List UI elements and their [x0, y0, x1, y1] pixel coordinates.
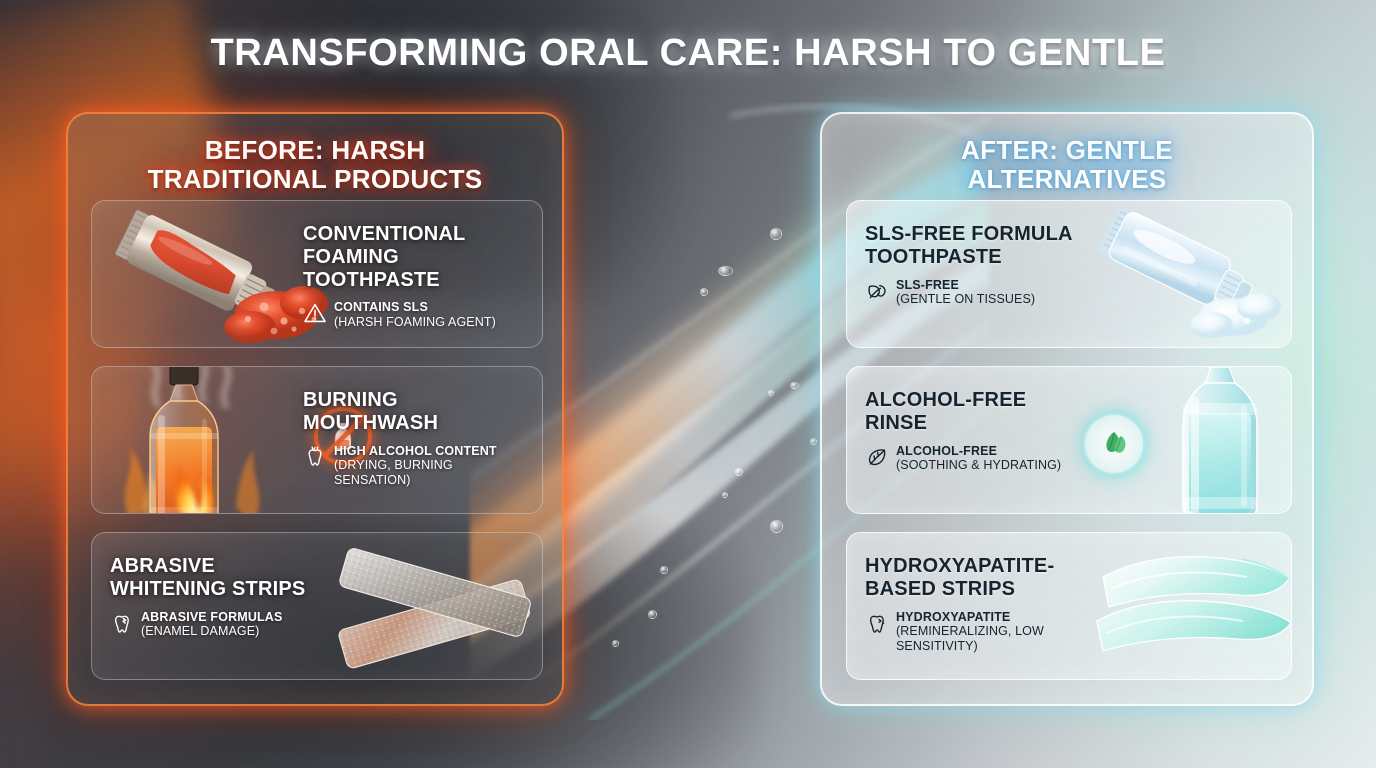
heading-line1: CONVENTIONAL — [303, 223, 465, 245]
bubble — [770, 228, 782, 240]
card-conventional-foaming-toothpaste[interactable]: CONVENTIONAL FOAMING TOOTHPASTE CONTAINS… — [91, 200, 543, 348]
card-text-abrasive-strips: ABRASIVE WHITENING STRIPS ABRASIVE FORMU… — [110, 555, 335, 639]
benefit-sub: (GENTLE ON TISSUES) — [896, 292, 1035, 307]
benefit-sub: (DRYING, BURNING SENSATION) — [334, 458, 528, 488]
benefit-lines: HIGH ALCOHOL CONTENT (DRYING, BURNING SE… — [334, 444, 528, 488]
bubble — [718, 266, 733, 276]
benefit-high-alcohol-content: HIGH ALCOHOL CONTENT (DRYING, BURNING SE… — [303, 444, 528, 488]
after-panel: AFTER: GENTLE ALTERNATIVES — [820, 112, 1314, 706]
card-heading-burning-mouthwash: BURNING MOUTHWASH — [303, 389, 528, 435]
card-heading-abrasive-strips: ABRASIVE WHITENING STRIPS — [110, 555, 335, 601]
heading-line1: ABRASIVE — [110, 555, 215, 577]
flaming-mouthwash-bottle-art — [102, 366, 302, 514]
benefit-abrasive-formulas: ABRASIVE FORMULAS (ENAMEL DAMAGE) — [110, 610, 335, 640]
heading-line2: FOAMING — [303, 246, 399, 268]
before-panel: BEFORE: HARSH TRADITIONAL PRODUCTS — [66, 112, 564, 706]
card-abrasive-whitening-strips[interactable]: ABRASIVE WHITENING STRIPS ABRASIVE FORMU… — [91, 532, 543, 680]
card-alcohol-free-rinse[interactable]: ALCOHOL-FREE RINSE ALCOHOL-FREE (SOOTHIN… — [846, 366, 1292, 514]
after-panel-title: AFTER: GENTLE ALTERNATIVES — [822, 136, 1312, 194]
benefit-lines: CONTAINS SLS (HARSH FOAMING AGENT) — [334, 300, 496, 330]
benefit-main: SLS-FREE — [896, 278, 1035, 293]
benefit-main: HYDROXYAPATITE — [896, 610, 1115, 625]
card-text-conventional-toothpaste: CONVENTIONAL FOAMING TOOTHPASTE CONTAINS… — [303, 223, 528, 330]
after-title-line2: ALTERNATIVES — [967, 164, 1166, 194]
bubble — [735, 468, 743, 476]
benefit-main: CONTAINS SLS — [334, 300, 496, 315]
bubble — [648, 610, 657, 619]
card-text-sls-free-toothpaste: SLS-FREE FORMULA TOOTHPASTE SLS-FREE (GE… — [865, 223, 1090, 307]
heading-line2: WHITENING STRIPS — [110, 578, 305, 600]
healthy-tooth-icon — [865, 611, 889, 635]
card-heading-conventional-toothpaste: CONVENTIONAL FOAMING TOOTHPASTE — [303, 223, 528, 291]
benefit-lines: SLS-FREE (GENTLE ON TISSUES) — [896, 278, 1035, 308]
after-title-line1: AFTER: GENTLE — [961, 135, 1173, 165]
mint-translucent-mouthwash-bottle-art — [1147, 366, 1292, 514]
benefit-sub: (REMINERALIZING, LOW SENSITIVITY) — [896, 624, 1115, 654]
card-heading-hydroxyapatite-strips: HYDROXYAPATITE- BASED STRIPS — [865, 555, 1115, 601]
benefit-lines: HYDROXYAPATITE (REMINERALIZING, LOW SENS… — [896, 610, 1115, 654]
leaf-icon — [865, 279, 889, 303]
benefit-sls-free: SLS-FREE (GENTLE ON TISSUES) — [865, 278, 1090, 308]
page-title: TRANSFORMING ORAL CARE: HARSH TO GENTLE — [0, 32, 1376, 75]
two-crossed-grainy-abrasive-strips-art — [332, 541, 542, 671]
benefit-lines: ALCOHOL-FREE (SOOTHING & HYDRATING) — [896, 444, 1061, 474]
bubble — [770, 520, 783, 533]
benefit-hydroxyapatite: HYDROXYAPATITE (REMINERALIZING, LOW SENS… — [865, 610, 1115, 654]
heading-line3: TOOTHPASTE — [303, 269, 440, 291]
benefit-lines: ABRASIVE FORMULAS (ENAMEL DAMAGE) — [141, 610, 282, 640]
card-heading-sls-free-toothpaste: SLS-FREE FORMULA TOOTHPASTE — [865, 223, 1090, 269]
benefit-sub: (ENAMEL DAMAGE) — [141, 624, 282, 639]
benefit-main: ALCOHOL-FREE — [896, 444, 1061, 459]
benefit-contains-sls: CONTAINS SLS (HARSH FOAMING AGENT) — [303, 300, 528, 330]
before-panel-title: BEFORE: HARSH TRADITIONAL PRODUCTS — [68, 136, 562, 194]
card-text-hydroxyapatite-strips: HYDROXYAPATITE- BASED STRIPS HYDROXYAPAT… — [865, 555, 1115, 654]
leaf-icon — [865, 445, 889, 469]
before-title-line1: BEFORE: HARSH — [205, 135, 426, 165]
heading-line1: SLS-FREE FORMULA — [865, 223, 1073, 245]
bubble — [768, 390, 774, 396]
mint-leaf-badge-icon — [1083, 413, 1145, 475]
heading-line2: RINSE — [865, 412, 927, 434]
benefit-alcohol-free: ALCOHOL-FREE (SOOTHING & HYDRATING) — [865, 444, 1090, 474]
infographic-canvas: TRANSFORMING ORAL CARE: HARSH TO GENTLE … — [0, 0, 1376, 768]
card-burning-mouthwash[interactable]: BURNING MOUTHWASH HIGH ALCOHOL CONTENT (… — [91, 366, 543, 514]
heading-line2: MOUTHWASH — [303, 412, 438, 434]
card-sls-free-toothpaste[interactable]: SLS-FREE FORMULA TOOTHPASTE SLS-FREE (GE… — [846, 200, 1292, 348]
bubble — [700, 288, 708, 296]
heading-line2: BASED STRIPS — [865, 578, 1015, 600]
heading-line1: BURNING — [303, 389, 398, 411]
card-text-burning-mouthwash: BURNING MOUTHWASH HIGH ALCOHOL CONTENT (… — [303, 389, 528, 488]
benefit-main: HIGH ALCOHOL CONTENT — [334, 444, 528, 459]
mint-leaf-glyph — [1097, 427, 1131, 461]
heading-line2: TOOTHPASTE — [865, 246, 1002, 268]
bubble — [660, 566, 668, 574]
heading-line1: HYDROXYAPATITE- — [865, 555, 1054, 577]
pale-blue-translucent-toothpaste-tube-art — [1077, 207, 1292, 342]
benefit-main: ABRASIVE FORMULAS — [141, 610, 282, 625]
card-heading-alcohol-free-rinse: ALCOHOL-FREE RINSE — [865, 389, 1090, 435]
bubble — [722, 492, 728, 498]
card-text-alcohol-free-rinse: ALCOHOL-FREE RINSE ALCOHOL-FREE (SOOTHIN… — [865, 389, 1090, 473]
card-hydroxyapatite-strips[interactable]: HYDROXYAPATITE- BASED STRIPS HYDROXYAPAT… — [846, 532, 1292, 680]
benefit-sub: (HARSH FOAMING AGENT) — [334, 315, 496, 330]
warning-triangle-icon — [303, 301, 327, 325]
bubble — [790, 382, 799, 389]
benefit-sub: (SOOTHING & HYDRATING) — [896, 458, 1061, 473]
before-title-line2: TRADITIONAL PRODUCTS — [148, 164, 483, 194]
bubble — [810, 438, 817, 445]
heading-line1: ALCOHOL-FREE — [865, 389, 1026, 411]
bubble — [612, 640, 619, 647]
cracked-tooth-icon — [110, 611, 134, 635]
smooth-curved-translucent-mint-strips-art — [1091, 537, 1292, 677]
tooth-damage-icon — [303, 445, 327, 469]
